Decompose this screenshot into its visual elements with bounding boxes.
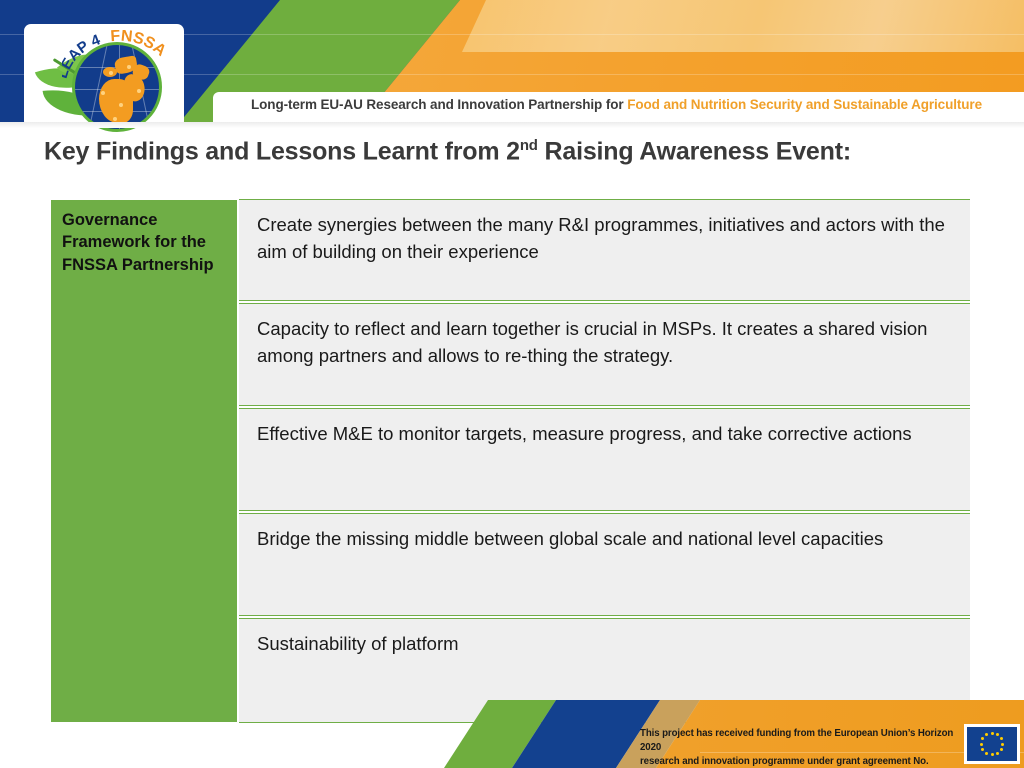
header-texture-band [430, 0, 1024, 52]
table-row: Create synergies between the many R&I pr… [239, 199, 970, 301]
page-title-ordinal: nd [520, 137, 538, 154]
table-row: Effective M&E to monitor targets, measur… [239, 408, 970, 511]
page-title: Key Findings and Lessons Learnt from 2nd… [44, 137, 851, 166]
funding-line-1: This project has received funding from t… [640, 727, 960, 755]
slide-root: LEAP 4 FNSSA Long-term EU-AU Research an… [0, 0, 1024, 768]
table-row-text: Sustainability of platform [257, 631, 957, 658]
banner-text-lead: Long-term EU-AU Research and Innovation … [251, 97, 627, 112]
header-banner: Long-term EU-AU Research and Innovation … [213, 92, 1024, 122]
table-row-text: Effective M&E to monitor targets, measur… [257, 421, 957, 448]
table-row-text: Capacity to reflect and learn together i… [257, 316, 957, 370]
logo-text-fnssa: FNSSA [110, 30, 170, 60]
table-category-label: Governance Framework for the FNSSA Partn… [62, 209, 230, 276]
page-title-main: Key Findings and Lessons Learnt from 2 [44, 137, 520, 165]
findings-table: Governance Framework for the FNSSA Partn… [51, 199, 970, 723]
funding-line-2: research and innovation programme under … [640, 755, 960, 768]
table-row: Bridge the missing middle between global… [239, 513, 970, 616]
table-row: Capacity to reflect and learn together i… [239, 303, 970, 406]
table-row-text: Bridge the missing middle between global… [257, 526, 957, 553]
svg-text:LEAP 4: LEAP 4 [62, 31, 103, 80]
header-shadow [0, 122, 1024, 128]
leap4fnssa-logo: LEAP 4 FNSSA [30, 16, 185, 138]
eu-flag-icon [964, 724, 1020, 764]
table-category-column: Governance Framework for the FNSSA Partn… [51, 200, 237, 722]
funding-statement: This project has received funding from t… [640, 727, 960, 768]
page-title-tail: Raising Awareness Event: [538, 137, 851, 165]
banner-text-highlight: Food and Nutrition Security and Sustaina… [627, 97, 982, 112]
logo-text-leap4: LEAP 4 [62, 31, 103, 80]
svg-text:FNSSA: FNSSA [110, 30, 170, 60]
table-rows: Create synergies between the many R&I pr… [239, 199, 970, 723]
banner-text: Long-term EU-AU Research and Innovation … [251, 97, 982, 112]
table-row-text: Create synergies between the many R&I pr… [257, 212, 957, 266]
logo-arc-text: LEAP 4 FNSSA [62, 30, 174, 88]
